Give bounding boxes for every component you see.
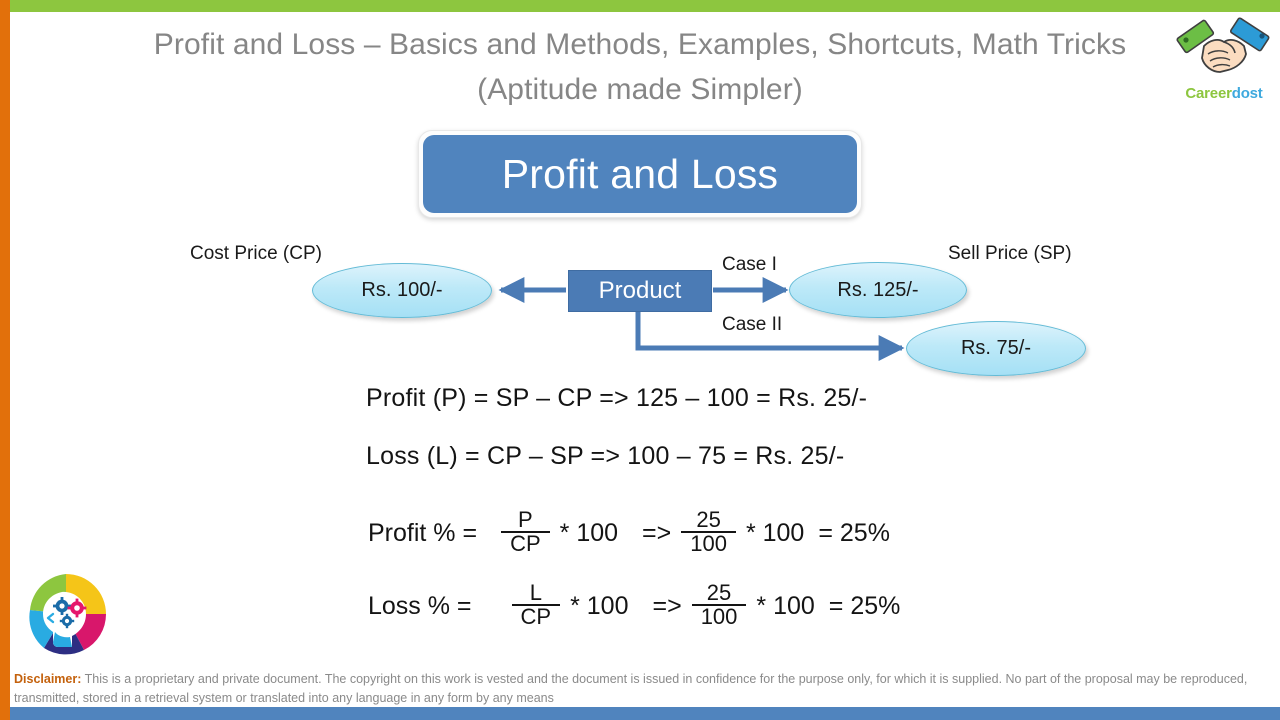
- loss-percent-label: Loss % =: [368, 592, 472, 621]
- sell-price-case2-node: Rs. 75/-: [906, 321, 1086, 376]
- product-node: Product: [568, 270, 712, 312]
- loss-percent-numerator-2: 25: [698, 582, 740, 604]
- profit-percent-arrow: =>: [642, 519, 671, 548]
- profit-percent-denominator-1: CP: [501, 531, 550, 555]
- profit-percent-numerator-2: 25: [687, 509, 729, 531]
- profit-percent-multiplier-1: * 100: [560, 519, 618, 548]
- profit-percent-numerator-1: P: [509, 509, 542, 531]
- loss-percent-fraction-1: L CP: [512, 582, 561, 629]
- profit-percent-label: Profit % =: [368, 519, 477, 548]
- sell-price-case2-value: Rs. 75/-: [961, 337, 1031, 360]
- profit-formula-line: Profit (P) = SP – CP => 125 – 100 = Rs. …: [366, 384, 867, 413]
- profit-percent-result: = 25%: [818, 519, 890, 548]
- profit-percent-fraction-2: 25 100: [681, 509, 736, 556]
- profit-percent-fraction-1: P CP: [501, 509, 550, 556]
- loss-percent-row: Loss % = L CP * 100 => 25 100 * 100 = 25…: [368, 583, 904, 630]
- product-node-label: Product: [599, 277, 682, 305]
- loss-percent-arrow: =>: [652, 592, 681, 621]
- cost-price-label: Cost Price (CP): [190, 243, 322, 265]
- head-with-gears-icon: [22, 570, 110, 658]
- profit-percent-multiplier-2: * 100: [746, 519, 804, 548]
- disclaimer-text: Disclaimer: This is a proprietary and pr…: [14, 670, 1270, 708]
- cost-price-value: Rs. 100/-: [361, 279, 442, 302]
- disclaimer-lead: Disclaimer:: [14, 672, 81, 686]
- loss-percent-result: = 25%: [829, 592, 901, 621]
- loss-percent-multiplier-2: * 100: [756, 592, 814, 621]
- head-with-gears-logo: [22, 570, 110, 658]
- sell-price-label: Sell Price (SP): [948, 243, 1072, 265]
- case-2-label: Case II: [722, 314, 782, 336]
- loss-percent-numerator-1: L: [521, 582, 551, 604]
- profit-percent-row: Profit % = P CP * 100 => 25 100 * 100 = …: [368, 510, 894, 557]
- sell-price-case1-value: Rs. 125/-: [837, 279, 918, 302]
- loss-percent-multiplier-1: * 100: [570, 592, 628, 621]
- case-1-label: Case I: [722, 254, 777, 276]
- profit-percent-denominator-2: 100: [681, 531, 736, 555]
- loss-percent-denominator-2: 100: [692, 604, 747, 628]
- sell-price-case1-node: Rs. 125/-: [789, 262, 967, 318]
- disclaimer-body: This is a proprietary and private docume…: [14, 672, 1247, 705]
- loss-percent-fraction-2: 25 100: [692, 582, 747, 629]
- cost-price-node: Rs. 100/-: [312, 263, 492, 318]
- loss-formula-line: Loss (L) = CP – SP => 100 – 75 = Rs. 25/…: [366, 442, 844, 471]
- loss-percent-denominator-1: CP: [512, 604, 561, 628]
